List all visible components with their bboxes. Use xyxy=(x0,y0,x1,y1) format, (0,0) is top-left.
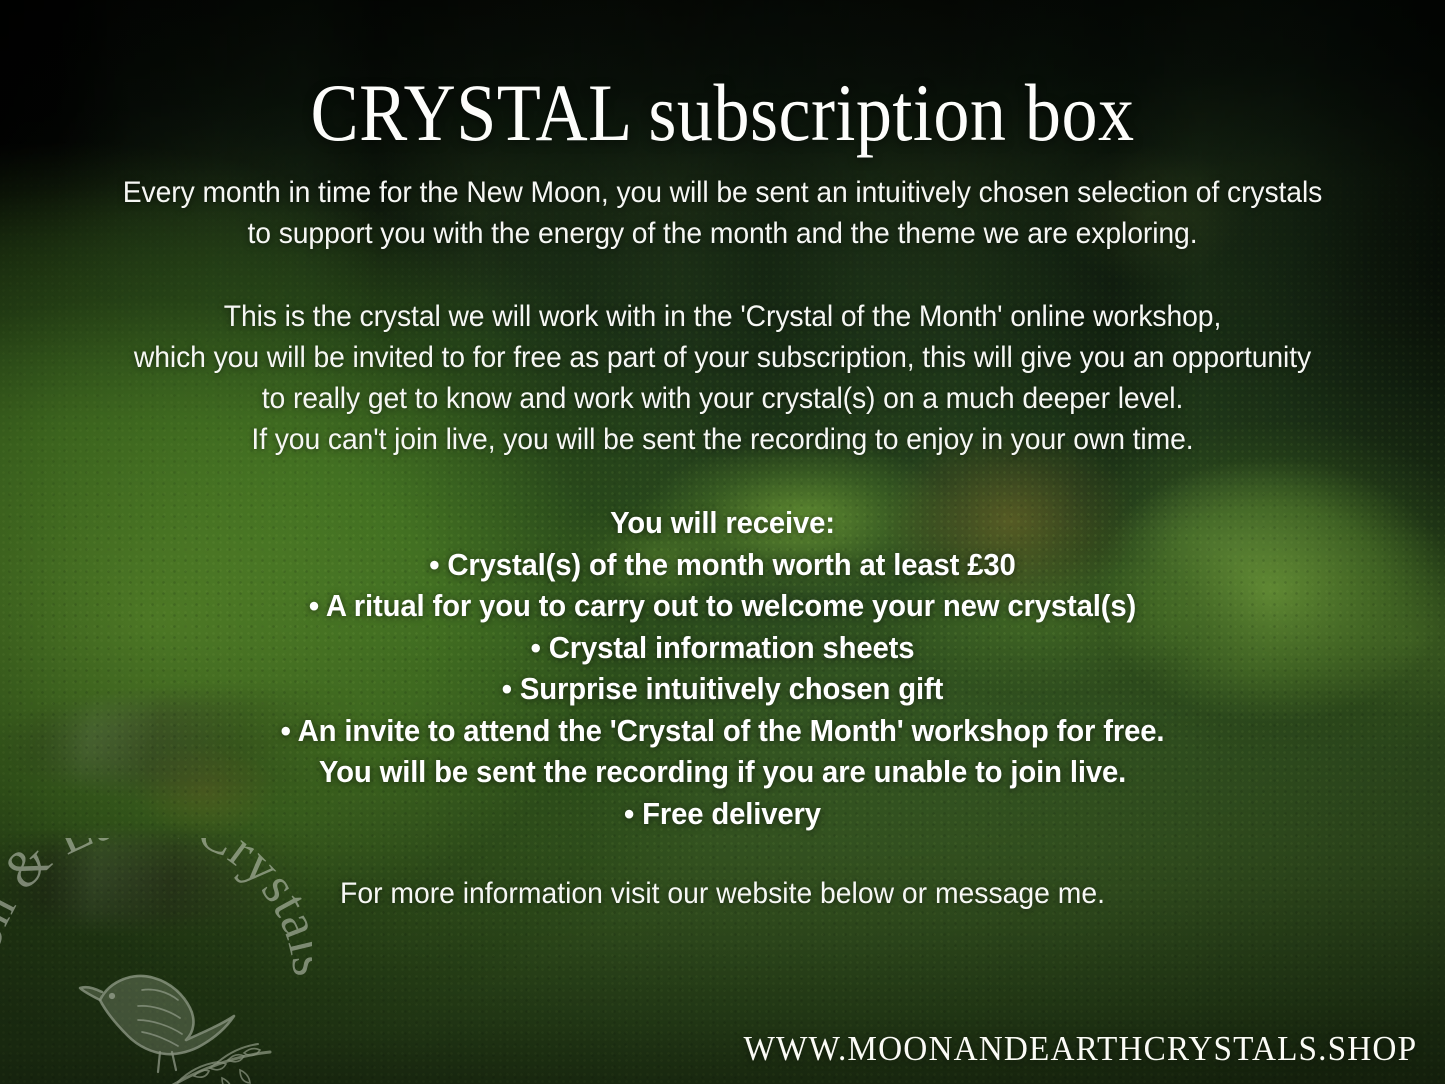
receive-list: You will receive: • Crystal(s) of the mo… xyxy=(29,503,1416,835)
footer-paragraph: For more information visit our website b… xyxy=(29,873,1416,914)
intro-line-1: Every month in time for the New Moon, yo… xyxy=(29,172,1416,213)
intro-line-2: to support you with the energy of the mo… xyxy=(29,213,1416,254)
list-item-info-sheets: • Crystal information sheets xyxy=(29,628,1416,670)
list-item-recording: You will be sent the recording if you ar… xyxy=(29,752,1416,794)
intro-paragraph: Every month in time for the New Moon, yo… xyxy=(29,172,1416,254)
workshop-paragraph: This is the crystal we will work with in… xyxy=(29,296,1416,460)
receive-heading: You will receive: xyxy=(29,503,1416,545)
poster-content: CRYSTAL subscription box Every month in … xyxy=(0,0,1445,1084)
list-item-crystal: • Crystal(s) of the month worth at least… xyxy=(29,545,1416,587)
workshop-line-2: which you will be invited to for free as… xyxy=(29,337,1416,378)
list-item-workshop: • An invite to attend the 'Crystal of th… xyxy=(29,711,1416,753)
poster-canvas: Moon & Earth Crystals xyxy=(0,0,1445,1084)
page-title: CRYSTAL subscription box xyxy=(87,67,1359,159)
list-item-delivery: • Free delivery xyxy=(29,794,1416,836)
workshop-line-4: If you can't join live, you will be sent… xyxy=(29,419,1416,460)
list-item-gift: • Surprise intuitively chosen gift xyxy=(29,669,1416,711)
website-url[interactable]: WWW.MOONANDEARTHCRYSTALS.SHOP xyxy=(743,1028,1417,1070)
workshop-line-1: This is the crystal we will work with in… xyxy=(29,296,1416,337)
workshop-line-3: to really get to know and work with your… xyxy=(29,378,1416,419)
footer-line: For more information visit our website b… xyxy=(29,873,1416,914)
list-item-ritual: • A ritual for you to carry out to welco… xyxy=(29,586,1416,628)
